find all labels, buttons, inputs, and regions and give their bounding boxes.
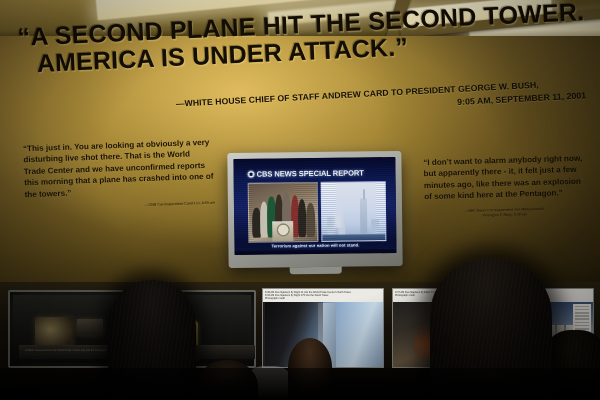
empire-state-building [360,199,367,234]
presidential-seal-icon [277,223,290,236]
monitor-stand [290,267,342,275]
special-report-banner-text: CBS NEWS SPECIAL REPORT [257,168,364,178]
broadcast-caption-text: Terrorism against our nation will not st… [271,242,359,248]
foreground-shadow [0,368,600,400]
quote-left-text: “This just in. You are looking at obviou… [23,137,215,201]
television-monitor: CBS NEWS SPECIAL REPORT [227,151,402,268]
quote-right-text: “I don’t want to alarm anybody right now… [423,153,584,203]
panel-caption-line-3: Photograph credit [265,297,381,300]
quote-right: “I don’t want to alarm anybody right now… [423,153,585,221]
quote-left: “This just in. You are looking at obviou… [23,137,215,213]
museum-exhibit-scene: “A SECOND PLANE HIT THE SECOND TOWER. AM… [0,0,600,400]
photo-panel-caption: 8:46 AM Five hijackers fly Flight 11 int… [263,289,383,302]
broadcast-press-conference [248,182,319,243]
television-screen: CBS NEWS SPECIAL REPORT [233,157,396,255]
artifact-fragment [77,319,103,335]
broadcast-caption-bar: Terrorism against our nation will not st… [234,239,396,251]
cbs-eye-icon [248,171,255,178]
skyline-building [371,219,379,234]
broadcast-skyline [321,181,387,242]
smoke-plume [331,201,345,228]
broadcast-split-view [248,181,387,243]
television-bezel-inner: CBS NEWS SPECIAL REPORT [233,157,396,255]
special-report-banner: CBS NEWS SPECIAL REPORT [247,166,386,181]
